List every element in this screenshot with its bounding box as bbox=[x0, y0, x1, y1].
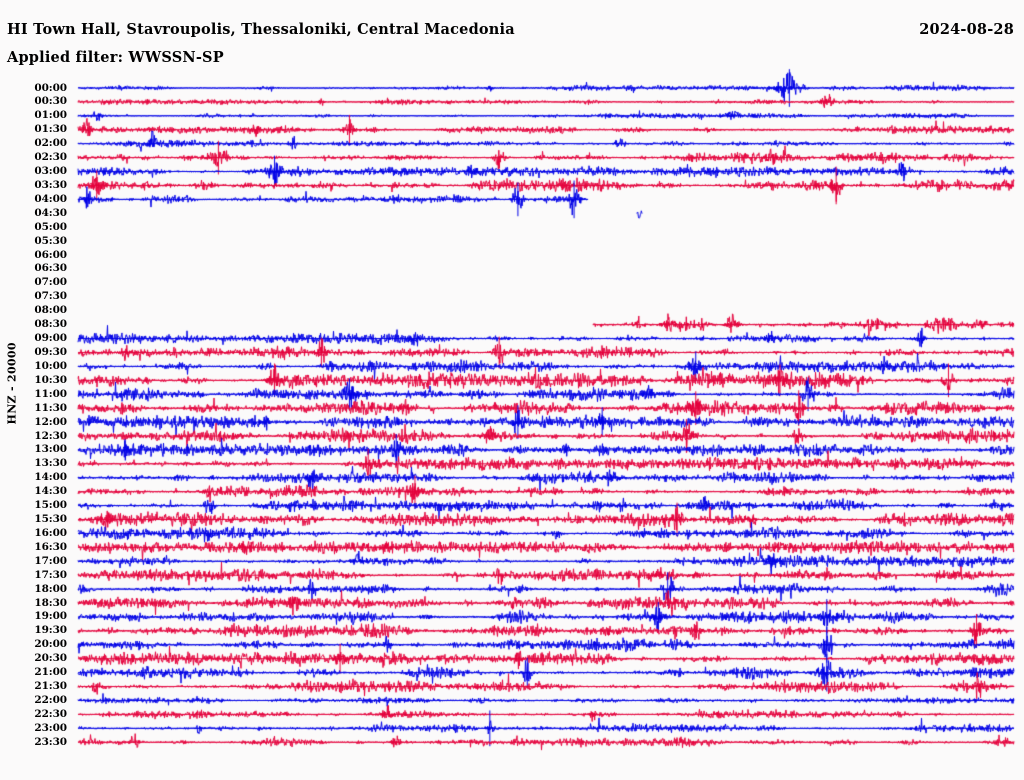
helicorder-page: HI Town Hall, Stavroupolis, Thessaloniki… bbox=[0, 0, 1024, 780]
seismogram-trace-area bbox=[0, 0, 1024, 780]
seismogram-canvas bbox=[0, 0, 1024, 780]
